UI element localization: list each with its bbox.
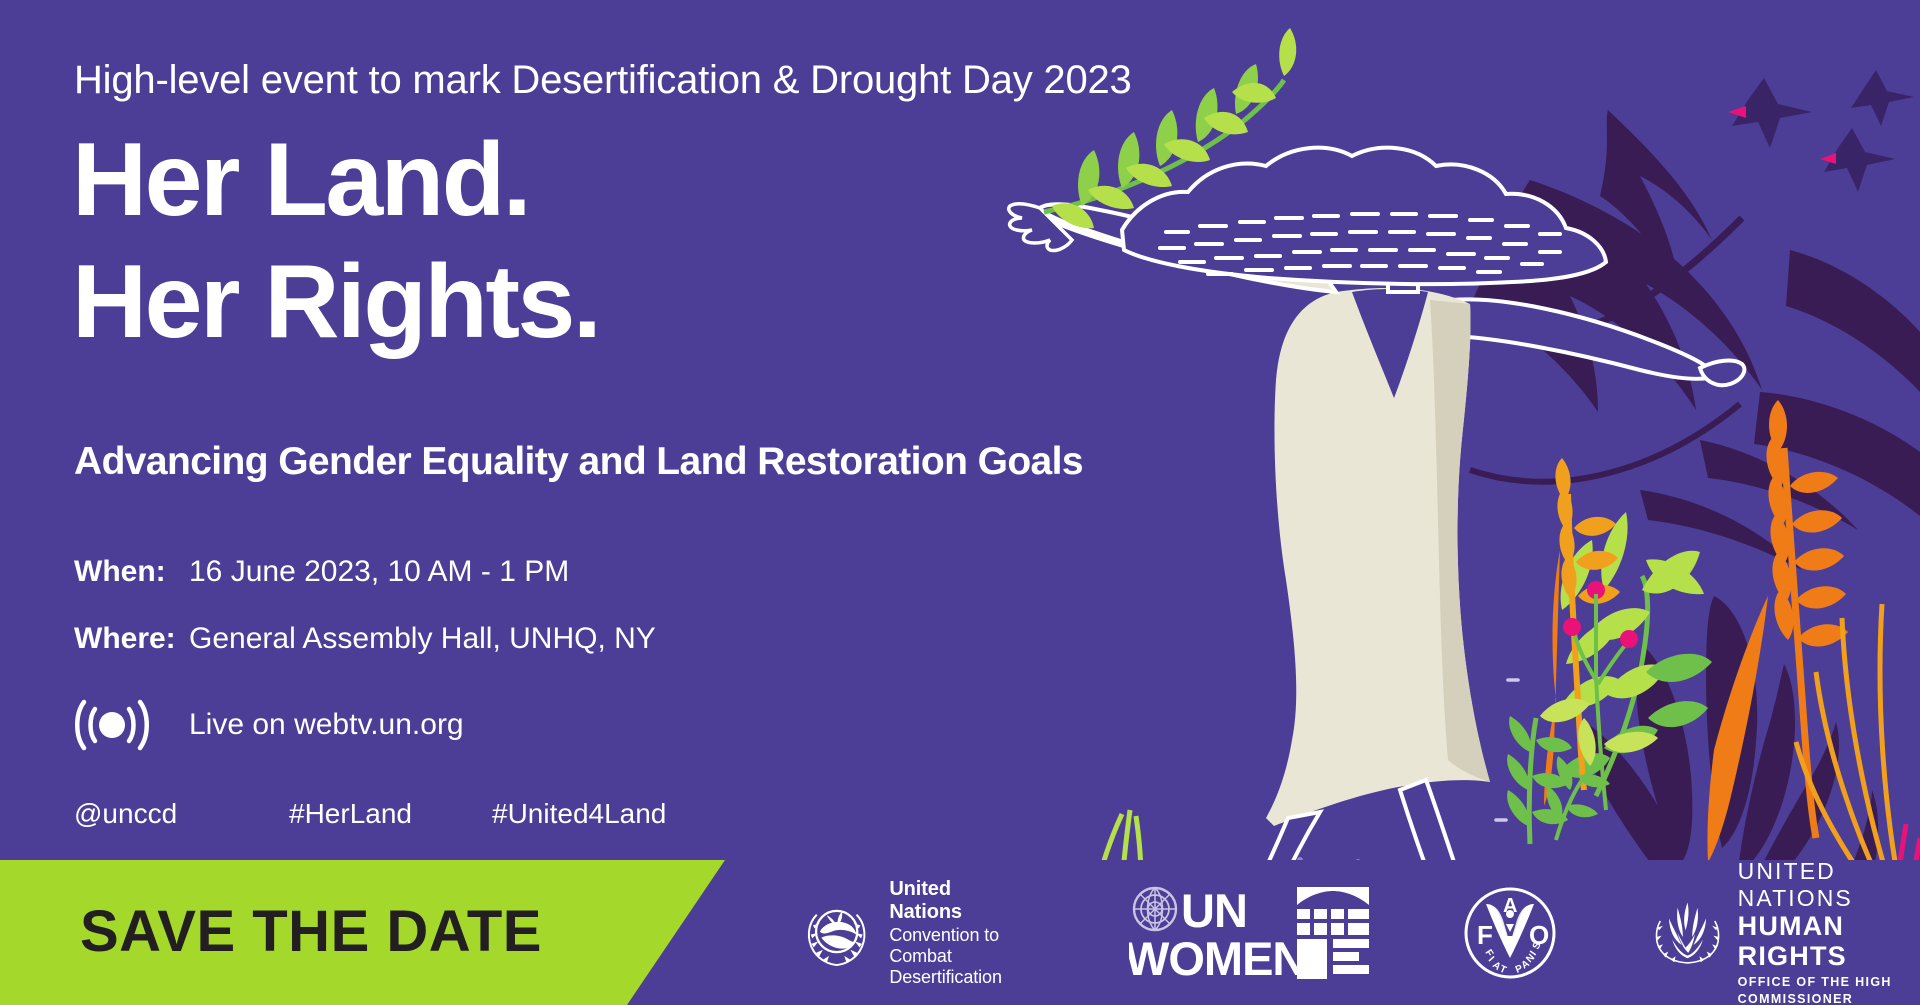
when-row: When: 16 June 2023, 10 AM - 1 PM (74, 555, 974, 589)
ohchr-wordmark: UNITED NATIONS HUMAN RIGHTS OFFICE OF TH… (1738, 858, 1920, 1005)
save-the-date-text: SAVE THE DATE (80, 898, 542, 965)
un-women-un-text: UN (1181, 884, 1247, 937)
social-handle[interactable]: @unccd (74, 798, 289, 830)
logo-un-women: UN WOMEN (1129, 883, 1375, 983)
event-tagline: Advancing Gender Equality and Land Resto… (74, 440, 1083, 484)
svg-text:F: F (1477, 920, 1493, 950)
bottom-bar: SAVE THE DATE (0, 860, 1920, 1005)
unccd-wordmark: United Nations Convention to Combat Dese… (889, 878, 1024, 988)
unccd-line-3: Desertification (889, 967, 1024, 988)
event-eyebrow: High-level event to mark Desertification… (74, 58, 1132, 103)
bird-icon (1851, 70, 1914, 126)
page-title: Her Land. Her Rights. (72, 130, 599, 354)
social-tags: @unccd #HerLand #United4Land (74, 798, 666, 830)
live-stream-row[interactable]: Live on webtv.un.org (72, 697, 464, 753)
event-details: When: 16 June 2023, 10 AM - 1 PM Where: … (74, 555, 974, 689)
ohchr-flame-icon (1651, 881, 1724, 985)
ohchr-line-3: OFFICE OF THE HIGH COMMISSIONER (1738, 974, 1920, 1005)
bird-icon (1820, 128, 1895, 192)
unccd-emblem-icon (800, 885, 873, 981)
bird-icon (1728, 78, 1812, 148)
partner-logos: United Nations Convention to Combat Dese… (780, 860, 1920, 1005)
svg-text:A: A (1503, 895, 1517, 917)
logo-fao: F A O F I A T P A N I S (1459, 882, 1561, 984)
ohchr-line-1: UNITED NATIONS (1738, 858, 1920, 911)
birds-group (1728, 70, 1914, 192)
unccd-line-2: Convention to Combat (889, 925, 1024, 967)
logo-ohchr: UNITED NATIONS HUMAN RIGHTS OFFICE OF TH… (1651, 858, 1920, 1005)
when-label: When: (74, 555, 189, 589)
fao-emblem-icon: F A O F I A T P A N I S (1459, 882, 1561, 984)
un-women-logo-icon: UN WOMEN (1129, 883, 1375, 983)
ohchr-line-2: HUMAN RIGHTS (1738, 911, 1920, 971)
poster-canvas: High-level event to mark Desertification… (0, 0, 1920, 1005)
un-women-women-text: WOMEN (1129, 932, 1305, 983)
hashtag-herland[interactable]: #HerLand (289, 798, 492, 830)
amber-grass (1796, 604, 1900, 900)
where-label: Where: (74, 622, 189, 656)
where-value: General Assembly Hall, UNHQ, NY (189, 622, 656, 656)
hashtag-united4land[interactable]: #United4Land (492, 798, 666, 830)
broadcast-icon (72, 697, 152, 753)
logo-unccd: United Nations Convention to Combat Dese… (800, 878, 1025, 988)
unccd-line-1: United Nations (889, 878, 1024, 925)
headline-line-2: Her Rights. (72, 252, 599, 354)
where-row: Where: General Assembly Hall, UNHQ, NY (74, 622, 974, 656)
headline-line-1: Her Land. (72, 122, 529, 238)
live-stream-url[interactable]: Live on webtv.un.org (189, 708, 464, 742)
when-value: 16 June 2023, 10 AM - 1 PM (189, 555, 569, 589)
